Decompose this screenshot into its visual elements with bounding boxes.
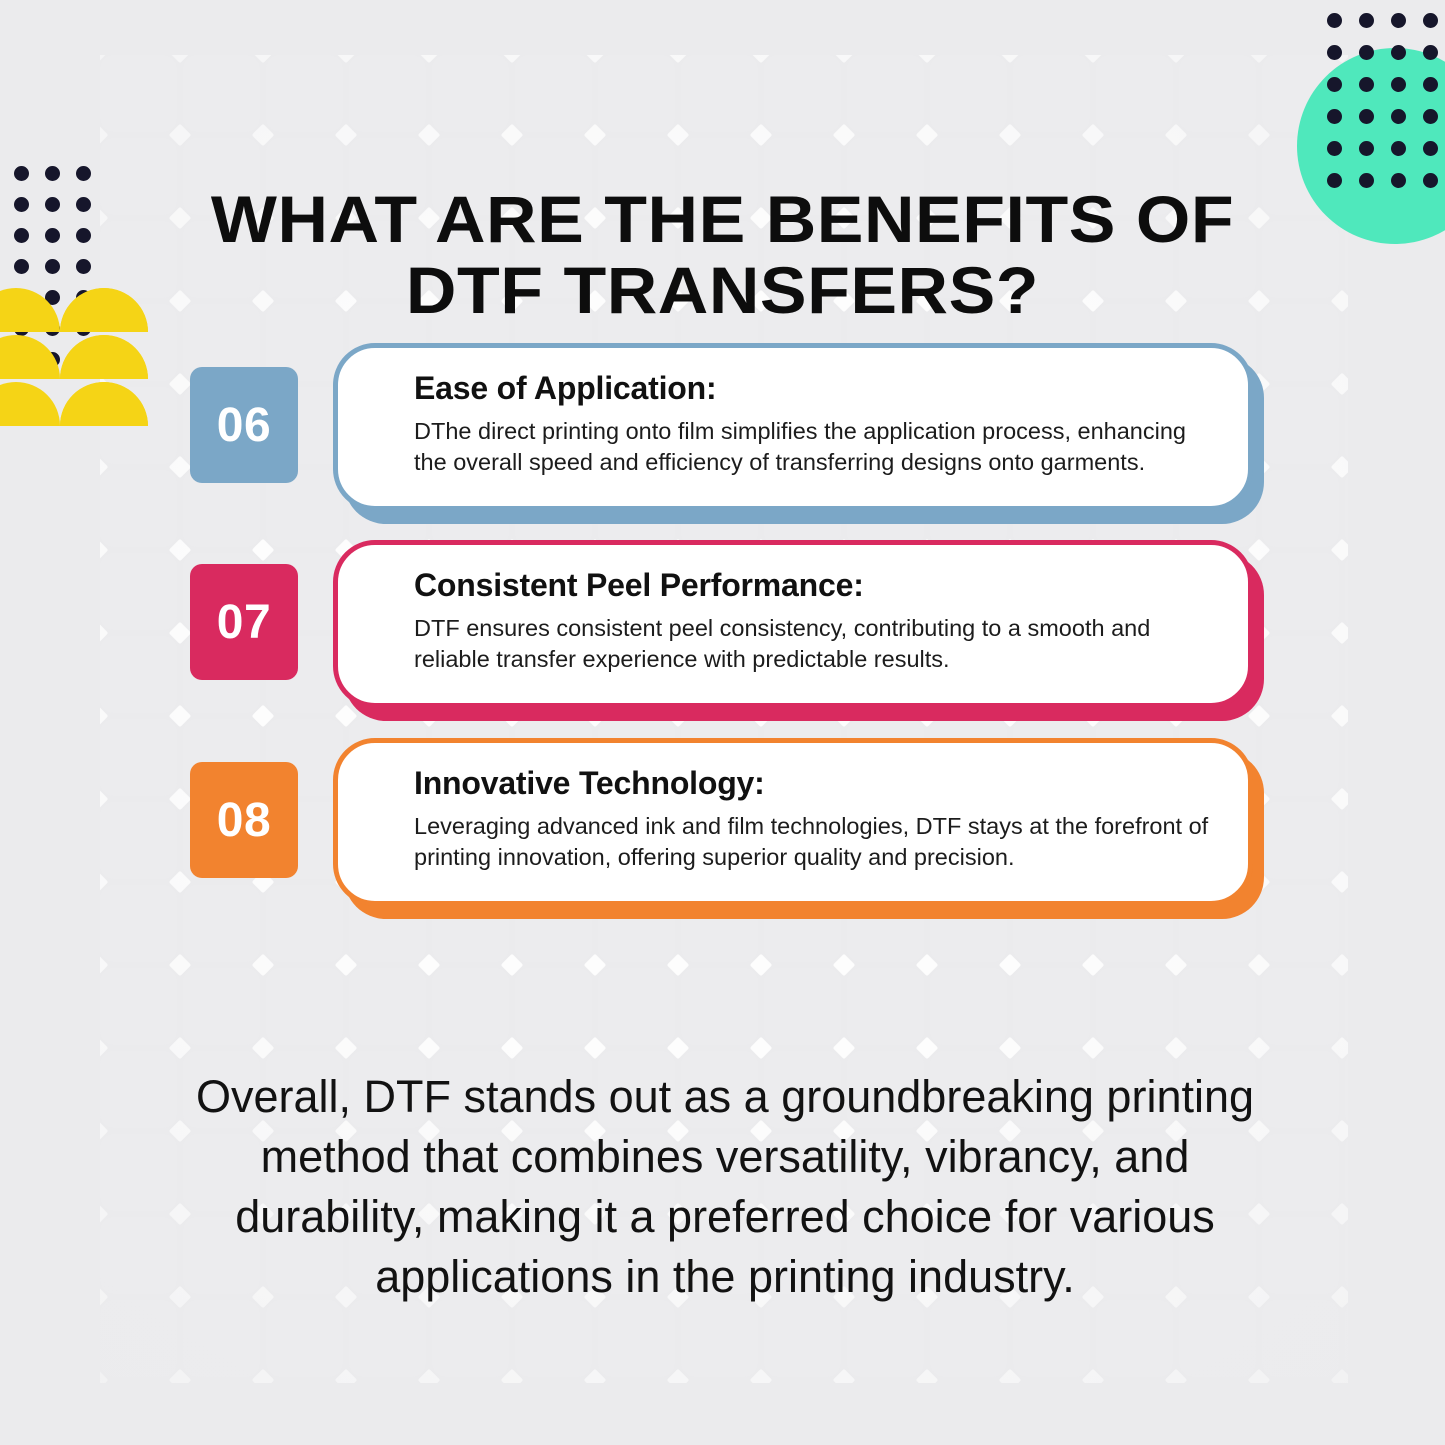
grid-intersection-diamond bbox=[750, 55, 773, 63]
grid-intersection-diamond bbox=[667, 954, 690, 977]
grid-intersection-diamond bbox=[1331, 1037, 1348, 1060]
card-number: 08 bbox=[217, 793, 271, 848]
grid-intersection-diamond bbox=[252, 124, 275, 147]
decorative-dot bbox=[1391, 109, 1406, 124]
grid-intersection-diamond bbox=[1331, 1203, 1348, 1226]
grid-intersection-diamond bbox=[501, 55, 524, 63]
grid-intersection-diamond bbox=[667, 1369, 690, 1383]
decorative-dot bbox=[76, 166, 91, 181]
grid-intersection-diamond bbox=[667, 1037, 690, 1060]
grid-intersection-diamond bbox=[169, 954, 192, 977]
grid-intersection-diamond bbox=[1165, 1369, 1188, 1383]
decorative-dot bbox=[1327, 77, 1342, 92]
grid-tile bbox=[349, 55, 426, 132]
grid-intersection-diamond bbox=[418, 55, 441, 63]
grid-intersection-diamond bbox=[1331, 456, 1348, 479]
grid-intersection-diamond bbox=[169, 539, 192, 562]
grid-tile bbox=[681, 55, 758, 132]
grid-intersection-diamond bbox=[100, 539, 108, 562]
semicircle-decoration bbox=[0, 335, 60, 379]
grid-intersection-diamond bbox=[1248, 124, 1271, 147]
benefit-card[interactable]: 08Innovative Technology:Leveraging advan… bbox=[190, 738, 1265, 908]
grid-tile bbox=[349, 1300, 426, 1377]
grid-tile bbox=[183, 968, 260, 1045]
grid-tile bbox=[1345, 1051, 1348, 1128]
decorative-dot bbox=[1327, 109, 1342, 124]
grid-tile bbox=[100, 719, 177, 796]
grid-intersection-diamond bbox=[100, 456, 108, 479]
grid-intersection-diamond bbox=[252, 954, 275, 977]
card-shell: Ease of Application:DThe direct printing… bbox=[333, 343, 1253, 511]
grid-tile bbox=[100, 1051, 177, 1128]
grid-tile bbox=[1262, 719, 1339, 796]
grid-intersection-diamond bbox=[169, 1037, 192, 1060]
grid-tile bbox=[1345, 802, 1348, 879]
grid-intersection-diamond bbox=[1082, 124, 1105, 147]
grid-tile bbox=[100, 1300, 177, 1377]
grid-intersection-diamond bbox=[169, 871, 192, 894]
grid-tile bbox=[598, 55, 675, 132]
grid-tile bbox=[930, 55, 1007, 132]
grid-tile bbox=[764, 55, 841, 132]
grid-tile bbox=[1345, 636, 1348, 713]
card-heading: Ease of Application: bbox=[414, 370, 1214, 407]
grid-intersection-diamond bbox=[335, 1369, 358, 1383]
grid-intersection-diamond bbox=[169, 788, 192, 811]
grid-intersection-diamond bbox=[584, 1369, 607, 1383]
grid-intersection-diamond bbox=[999, 1037, 1022, 1060]
grid-tile bbox=[1345, 1217, 1348, 1294]
grid-tile bbox=[1096, 55, 1173, 132]
grid-tile bbox=[515, 55, 592, 132]
grid-intersection-diamond bbox=[833, 1369, 856, 1383]
grid-intersection-diamond bbox=[750, 1369, 773, 1383]
grid-intersection-diamond bbox=[750, 124, 773, 147]
grid-intersection-diamond bbox=[100, 788, 108, 811]
decorative-dot bbox=[14, 228, 29, 243]
grid-intersection-diamond bbox=[833, 124, 856, 147]
grid-intersection-diamond bbox=[100, 705, 108, 728]
decorative-dot bbox=[1391, 141, 1406, 156]
grid-intersection-diamond bbox=[1082, 55, 1105, 63]
grid-intersection-diamond bbox=[584, 1037, 607, 1060]
grid-tile bbox=[1345, 1300, 1348, 1377]
grid-intersection-diamond bbox=[1331, 1369, 1348, 1383]
grid-tile bbox=[1096, 968, 1173, 1045]
grid-tile bbox=[1345, 1134, 1348, 1211]
grid-intersection-diamond bbox=[501, 124, 524, 147]
grid-tile bbox=[764, 968, 841, 1045]
grid-tile bbox=[100, 1217, 177, 1294]
benefit-card[interactable]: 06Ease of Application:DThe direct printi… bbox=[190, 343, 1265, 513]
grid-tile bbox=[598, 968, 675, 1045]
decorative-dot bbox=[1359, 173, 1374, 188]
grid-intersection-diamond bbox=[1331, 788, 1348, 811]
grid-intersection-diamond bbox=[169, 55, 192, 63]
decorative-dot bbox=[1423, 109, 1438, 124]
grid-intersection-diamond bbox=[1331, 622, 1348, 645]
grid-tile bbox=[100, 885, 177, 962]
grid-intersection-diamond bbox=[418, 1037, 441, 1060]
grid-intersection-diamond bbox=[335, 55, 358, 63]
decorative-dot bbox=[14, 166, 29, 181]
grid-tile bbox=[1262, 636, 1339, 713]
grid-intersection-diamond bbox=[169, 456, 192, 479]
grid-intersection-diamond bbox=[1082, 954, 1105, 977]
card-number-badge: 08 bbox=[190, 762, 298, 878]
decorative-dot bbox=[76, 228, 91, 243]
grid-tile bbox=[1262, 470, 1339, 547]
grid-intersection-diamond bbox=[1248, 1037, 1271, 1060]
card-description: Leveraging advanced ink and film technol… bbox=[414, 811, 1214, 874]
grid-tile bbox=[515, 968, 592, 1045]
grid-tile bbox=[1262, 387, 1339, 464]
grid-tile bbox=[432, 1300, 509, 1377]
semicircle-decoration bbox=[0, 382, 60, 426]
card-body: Consistent Peel Performance:DTF ensures … bbox=[333, 540, 1253, 708]
grid-intersection-diamond bbox=[999, 954, 1022, 977]
grid-intersection-diamond bbox=[100, 1286, 108, 1309]
grid-tile bbox=[681, 968, 758, 1045]
decorative-dot bbox=[1423, 13, 1438, 28]
grid-tile bbox=[349, 968, 426, 1045]
decorative-dot bbox=[1391, 77, 1406, 92]
grid-intersection-diamond bbox=[252, 55, 275, 63]
grid-tile bbox=[1179, 1300, 1256, 1377]
grid-intersection-diamond bbox=[1165, 124, 1188, 147]
decorative-dot bbox=[76, 259, 91, 274]
page-title: WHAT ARE THE BENEFITS OF DTF TRANSFERS? bbox=[137, 184, 1308, 327]
grid-intersection-diamond bbox=[1331, 705, 1348, 728]
grid-tile bbox=[1013, 1300, 1090, 1377]
decorative-dot bbox=[1391, 13, 1406, 28]
grid-intersection-diamond bbox=[335, 954, 358, 977]
grid-intersection-diamond bbox=[1248, 954, 1271, 977]
grid-intersection-diamond bbox=[100, 1120, 108, 1143]
grid-intersection-diamond bbox=[833, 1037, 856, 1060]
grid-intersection-diamond bbox=[335, 1037, 358, 1060]
semicircle-decoration bbox=[60, 382, 148, 426]
grid-intersection-diamond bbox=[100, 871, 108, 894]
semicircle-decoration bbox=[60, 335, 148, 379]
grid-intersection-diamond bbox=[100, 1203, 108, 1226]
grid-intersection-diamond bbox=[667, 55, 690, 63]
grid-intersection-diamond bbox=[999, 1369, 1022, 1383]
grid-intersection-diamond bbox=[1248, 55, 1271, 63]
card-number-badge: 06 bbox=[190, 367, 298, 483]
grid-intersection-diamond bbox=[999, 55, 1022, 63]
grid-tile bbox=[681, 1300, 758, 1377]
decorative-dot bbox=[1359, 45, 1374, 60]
grid-intersection-diamond bbox=[169, 373, 192, 396]
grid-tile bbox=[1262, 885, 1339, 962]
grid-intersection-diamond bbox=[916, 124, 939, 147]
decorative-dot bbox=[14, 259, 29, 274]
grid-intersection-diamond bbox=[1082, 1369, 1105, 1383]
decorative-dot bbox=[1359, 13, 1374, 28]
grid-tile bbox=[1345, 885, 1348, 962]
grid-intersection-diamond bbox=[418, 954, 441, 977]
card-number: 07 bbox=[217, 595, 271, 650]
grid-intersection-diamond bbox=[1331, 1286, 1348, 1309]
card-number-badge: 07 bbox=[190, 564, 298, 680]
grid-tile bbox=[183, 55, 260, 132]
grid-tile bbox=[1262, 1300, 1339, 1377]
grid-tile bbox=[266, 968, 343, 1045]
grid-intersection-diamond bbox=[1331, 539, 1348, 562]
card-description: DTF ensures consistent peel consistency,… bbox=[414, 613, 1214, 676]
infographic-poster: WHAT ARE THE BENEFITS OF DTF TRANSFERS? … bbox=[0, 0, 1445, 1445]
grid-tile bbox=[266, 1300, 343, 1377]
decorative-dot bbox=[1391, 173, 1406, 188]
grid-intersection-diamond bbox=[100, 954, 108, 977]
grid-intersection-diamond bbox=[252, 1369, 275, 1383]
grid-tile bbox=[1262, 553, 1339, 630]
grid-intersection-diamond bbox=[100, 1369, 108, 1383]
card-shell: Consistent Peel Performance:DTF ensures … bbox=[333, 540, 1253, 708]
grid-intersection-diamond bbox=[916, 55, 939, 63]
decorative-dot bbox=[1327, 13, 1342, 28]
decorative-dot bbox=[1423, 141, 1438, 156]
grid-intersection-diamond bbox=[1165, 954, 1188, 977]
grid-intersection-diamond bbox=[501, 954, 524, 977]
grid-tile bbox=[847, 55, 924, 132]
grid-intersection-diamond bbox=[169, 705, 192, 728]
grid-intersection-diamond bbox=[1331, 373, 1348, 396]
grid-tile bbox=[930, 1300, 1007, 1377]
grid-intersection-diamond bbox=[1331, 871, 1348, 894]
grid-tile bbox=[1179, 968, 1256, 1045]
card-heading: Consistent Peel Performance: bbox=[414, 567, 1214, 604]
decorative-dot bbox=[45, 166, 60, 181]
grid-intersection-diamond bbox=[1165, 55, 1188, 63]
grid-tile bbox=[930, 968, 1007, 1045]
grid-intersection-diamond bbox=[584, 55, 607, 63]
grid-intersection-diamond bbox=[833, 954, 856, 977]
grid-tile bbox=[515, 1300, 592, 1377]
card-number: 06 bbox=[217, 398, 271, 453]
grid-tile bbox=[100, 1134, 177, 1211]
grid-tile bbox=[432, 968, 509, 1045]
decorative-dot bbox=[1327, 45, 1342, 60]
grid-intersection-diamond bbox=[100, 124, 108, 147]
grid-tile bbox=[100, 470, 177, 547]
card-body: Ease of Application:DThe direct printing… bbox=[333, 343, 1253, 511]
grid-tile bbox=[1013, 968, 1090, 1045]
grid-tile bbox=[1345, 221, 1348, 298]
grid-intersection-diamond bbox=[584, 954, 607, 977]
grid-intersection-diamond bbox=[916, 1369, 939, 1383]
grid-intersection-diamond bbox=[916, 954, 939, 977]
decorative-dot bbox=[1327, 141, 1342, 156]
grid-intersection-diamond bbox=[169, 124, 192, 147]
grid-tile bbox=[100, 968, 177, 1045]
decorative-dot bbox=[1359, 77, 1374, 92]
decorative-dot bbox=[45, 197, 60, 212]
grid-intersection-diamond bbox=[100, 622, 108, 645]
grid-intersection-diamond bbox=[335, 124, 358, 147]
grid-tile bbox=[266, 55, 343, 132]
grid-tile bbox=[432, 55, 509, 132]
grid-intersection-diamond bbox=[100, 207, 108, 230]
grid-tile bbox=[847, 1300, 924, 1377]
grid-tile bbox=[1262, 802, 1339, 879]
card-body: Innovative Technology:Leveraging advance… bbox=[333, 738, 1253, 906]
grid-intersection-diamond bbox=[584, 124, 607, 147]
grid-intersection-diamond bbox=[1331, 290, 1348, 313]
grid-tile bbox=[1345, 387, 1348, 464]
decorative-dot bbox=[1391, 45, 1406, 60]
grid-intersection-diamond bbox=[169, 622, 192, 645]
decorative-dot bbox=[45, 228, 60, 243]
grid-intersection-diamond bbox=[1248, 1369, 1271, 1383]
grid-intersection-diamond bbox=[916, 1037, 939, 1060]
grid-tile bbox=[598, 1300, 675, 1377]
decorative-dot bbox=[1423, 77, 1438, 92]
grid-intersection-diamond bbox=[1165, 1037, 1188, 1060]
grid-intersection-diamond bbox=[418, 1369, 441, 1383]
grid-tile bbox=[1262, 968, 1339, 1045]
grid-tile bbox=[100, 802, 177, 879]
grid-intersection-diamond bbox=[750, 1037, 773, 1060]
card-shell: Innovative Technology:Leveraging advance… bbox=[333, 738, 1253, 906]
decorative-dot bbox=[1359, 141, 1374, 156]
grid-intersection-diamond bbox=[501, 1369, 524, 1383]
grid-tile bbox=[183, 1300, 260, 1377]
benefit-card[interactable]: 07Consistent Peel Performance:DTF ensure… bbox=[190, 540, 1265, 710]
card-heading: Innovative Technology: bbox=[414, 765, 1214, 802]
grid-tile bbox=[1345, 553, 1348, 630]
grid-intersection-diamond bbox=[100, 1037, 108, 1060]
grid-tile bbox=[1345, 304, 1348, 381]
grid-intersection-diamond bbox=[1082, 1037, 1105, 1060]
grid-intersection-diamond bbox=[501, 1037, 524, 1060]
grid-tile bbox=[1013, 55, 1090, 132]
decorative-dot bbox=[45, 259, 60, 274]
grid-intersection-diamond bbox=[418, 124, 441, 147]
grid-intersection-diamond bbox=[100, 55, 108, 63]
grid-tile bbox=[1345, 470, 1348, 547]
grid-intersection-diamond bbox=[1331, 1120, 1348, 1143]
decorative-dot bbox=[1359, 109, 1374, 124]
grid-tile bbox=[1345, 719, 1348, 796]
decorative-dot bbox=[1423, 45, 1438, 60]
grid-intersection-diamond bbox=[1331, 954, 1348, 977]
grid-tile bbox=[100, 55, 177, 132]
grid-tile bbox=[100, 553, 177, 630]
decorative-dot bbox=[1327, 173, 1342, 188]
semicircle-decoration bbox=[60, 288, 148, 332]
grid-tile bbox=[100, 636, 177, 713]
grid-tile bbox=[1179, 55, 1256, 132]
grid-tile bbox=[1096, 1300, 1173, 1377]
decorative-dot bbox=[1423, 173, 1438, 188]
grid-intersection-diamond bbox=[169, 1369, 192, 1383]
grid-intersection-diamond bbox=[999, 124, 1022, 147]
summary-paragraph: Overall, DTF stands out as a groundbreak… bbox=[175, 1067, 1275, 1306]
grid-intersection-diamond bbox=[833, 55, 856, 63]
grid-intersection-diamond bbox=[667, 124, 690, 147]
grid-tile bbox=[1345, 968, 1348, 1045]
card-description: DThe direct printing onto film simplifie… bbox=[414, 416, 1214, 479]
grid-intersection-diamond bbox=[252, 1037, 275, 1060]
decorative-dot bbox=[14, 197, 29, 212]
grid-tile bbox=[847, 968, 924, 1045]
grid-intersection-diamond bbox=[750, 954, 773, 977]
grid-tile bbox=[764, 1300, 841, 1377]
decorative-dot bbox=[76, 197, 91, 212]
